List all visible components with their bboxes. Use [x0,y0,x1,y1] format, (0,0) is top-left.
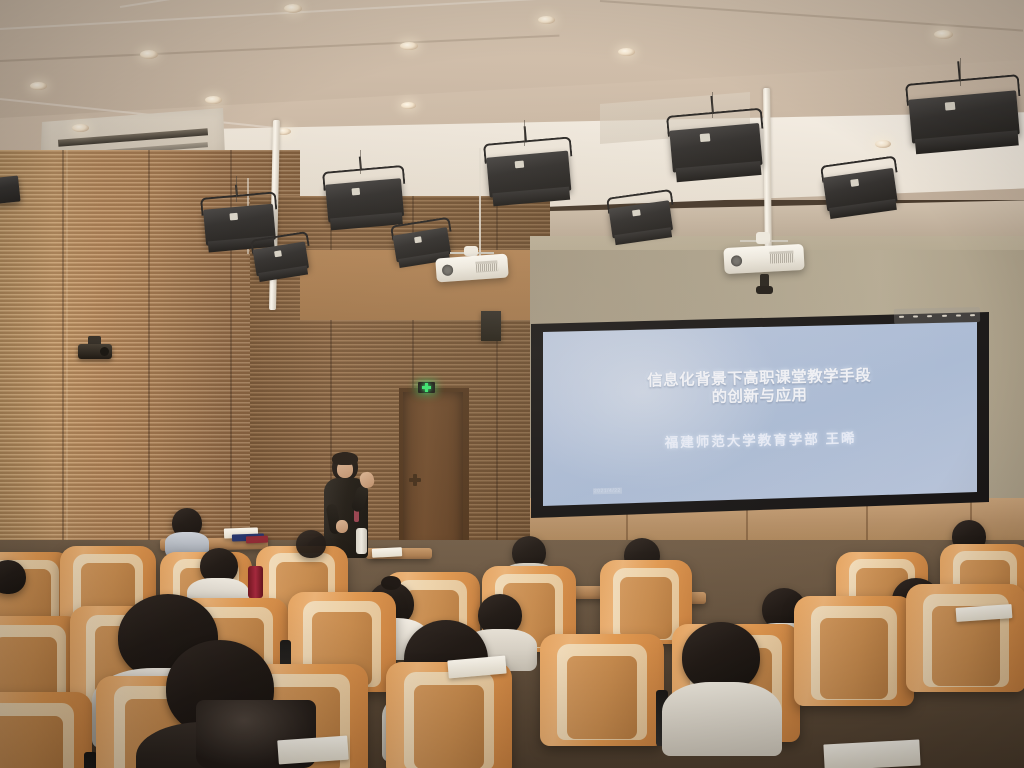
exit-cross-icon [422,383,431,392]
projector-right [724,238,804,276]
seat-pad [0,716,63,768]
indicator-dot-icon [942,314,947,316]
lecture-hall-photo: 信息化背景下高职课堂教学手段 的创新与应用 福建师范大学教育学部 王晞 2021… [0,0,1024,768]
seat-pad [414,685,485,768]
projection-screen[interactable]: 信息化背景下高职课堂教学手段 的创新与应用 福建师范大学教育学部 王晞 2021… [543,322,977,506]
projector-left [436,250,508,284]
auditorium-seat[interactable] [0,692,92,768]
papers-on-desk [246,536,268,544]
camera-lens-icon [100,347,109,356]
projector-vent [476,260,499,273]
seat-pad [620,577,672,639]
seat-pad [820,618,887,699]
wall-panel-seam [66,150,68,580]
exit-sign [418,382,435,393]
downlight [140,50,158,59]
shoulders [662,682,782,756]
display-indicator-dots[interactable] [894,307,980,324]
downlight [934,30,953,39]
papers-on-desk [277,736,349,765]
light-led-icon [274,250,282,257]
slide-title-line2: 的创新与应用 [711,387,807,408]
auditorium-seat[interactable] [794,596,914,706]
projector-lens-icon [442,264,454,276]
seat-pad [567,656,636,739]
projector-mount [464,246,478,256]
wall-speaker [481,311,501,341]
projector-lens-icon [731,255,743,267]
downlight [284,4,302,13]
indicator-dot-icon [927,315,932,317]
light-led-icon [414,236,422,243]
light-led-icon [352,188,361,196]
exit-door[interactable] [403,392,463,550]
indicator-dot-icon [899,315,904,317]
auditorium-seat[interactable] [540,634,664,746]
wall-panel-seam [148,150,150,580]
water-bottle [356,528,367,554]
downlight [400,42,418,50]
hanging-wire [236,176,237,202]
presenter-hand [336,520,348,533]
wall-panel-seam [62,150,64,580]
projector-vent [770,250,795,263]
light-led-icon [850,179,859,187]
papers-on-desk [823,740,920,768]
indicator-dot-icon [970,314,975,316]
presenter-fringe [332,452,358,465]
hanging-wire [524,120,525,146]
hanging-wire [960,58,961,86]
hanging-wire [360,150,361,174]
slide-content: 信息化背景下高职课堂教学手段 的创新与应用 福建师范大学教育学部 王晞 [543,322,977,506]
downlight [72,124,89,132]
slide-presenter-line: 福建师范大学教育学部 王晞 [664,426,856,451]
light-led-icon [700,133,711,142]
light-led-icon [632,209,641,216]
light-led-icon [945,102,956,111]
downlight [618,48,635,56]
downlight [875,140,891,148]
projector-dropper-base [756,286,773,294]
hanging-wire [712,92,713,118]
door-handle[interactable] [413,474,417,486]
head [296,530,326,558]
slide-date-stamp: 2021/4/22 [593,488,622,495]
light-body [0,175,21,203]
light-led-icon [515,161,525,169]
downlight [401,102,416,109]
downlight [205,96,222,104]
projector-body [435,254,508,283]
downlight [30,82,47,90]
papers-on-desk [372,547,402,558]
wall-camera [78,336,114,362]
downlight [538,16,555,24]
auditorium-seat[interactable] [906,584,1024,692]
indicator-dot-icon [956,314,961,316]
light-led-icon [229,213,238,221]
hair-bun [381,576,401,590]
projector-body [723,244,804,274]
projector-mount [756,232,770,244]
thermos-bottle [248,566,263,598]
indicator-dot-icon [913,315,918,317]
